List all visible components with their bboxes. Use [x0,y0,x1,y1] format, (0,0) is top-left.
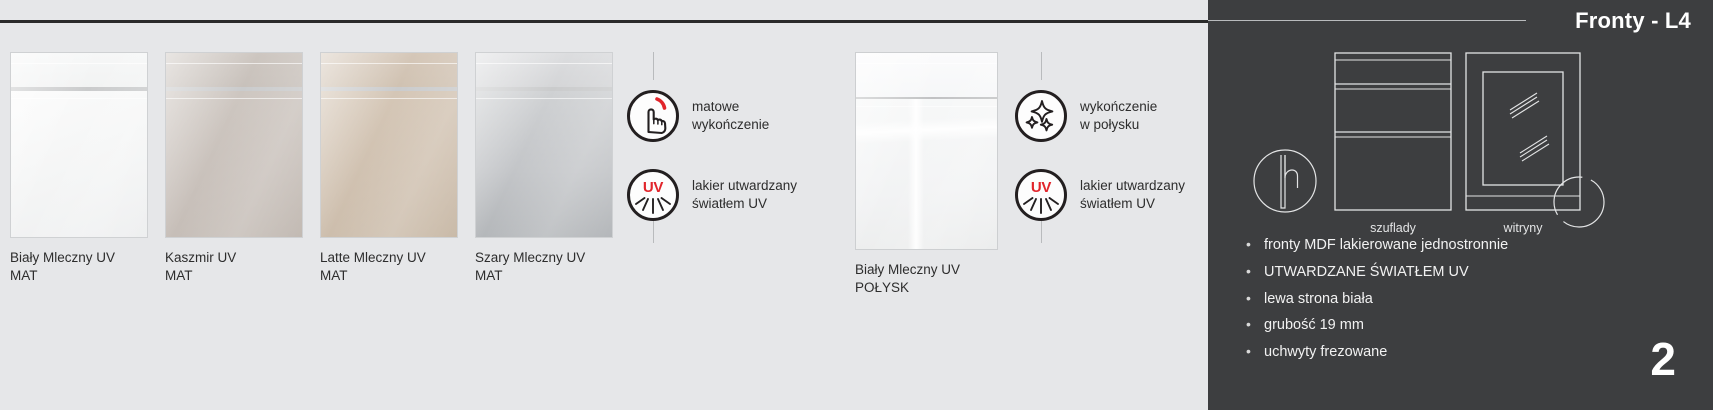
drawer-front-band [11,53,147,87]
feature-label: matowe wykończenie [692,98,769,134]
sample-card-kaszmir-mat[interactable]: Kaszmir UVMAT [165,52,303,285]
technical-diagrams: szuflady witryny [1208,48,1713,223]
door-front-panel [476,91,612,237]
bullet-marker: • [1246,286,1264,312]
feature-label: lakier utwardzany światłem UV [692,177,797,213]
list-item: • fronty MDF lakierowane jednostronnie [1246,232,1686,259]
list-item-label: fronty MDF lakierowane jednostronnie [1264,233,1508,259]
feature-label: wykończenie w połysku [1080,98,1157,134]
door-front-panel [856,99,997,249]
bullet-marker: • [1246,339,1264,365]
feature-bullet-list: • fronty MDF lakierowane jednostronnie •… [1246,232,1686,366]
feature-item-uv-cured-matt: UV lakier utwardzany światłem UV [627,169,797,221]
uv-lamp-icon: UV [1015,169,1067,221]
gloss-reflection-horizontal [856,116,998,144]
list-item-label: grubość 19 mm [1264,313,1364,339]
feature-item-matte-finish: matowe wykończenie [627,90,797,142]
door-front-preview [165,52,303,238]
feature-list-matt: matowe wykończenie UV lakier utwardzany … [627,90,797,248]
catalog-page: Biały Mleczny UVMAT Kaszmir UVMAT Latte … [0,0,1713,410]
sample-card-latte-mleczny-mat[interactable]: Latte Mleczny UVMAT [320,52,458,285]
drawer-front-band [166,53,302,87]
uv-rays-glyph [1018,172,1064,218]
door-front-preview [320,52,458,238]
door-front-panel [166,91,302,237]
feature-item-uv-cured-gloss: UV lakier utwardzany światłem UV [1015,169,1185,221]
page-title: Fronty - L4 [1575,8,1713,34]
section-divider-gloss-left [1041,52,1042,80]
sample-name-label: Szary Mleczny UVMAT [475,249,613,285]
sample-card-szary-mleczny-mat[interactable]: Szary Mleczny UVMAT [475,52,613,285]
list-item: • lewa strona biała [1246,286,1686,313]
panel-title-rule [1208,20,1526,21]
section-divider-matt-left [653,52,654,80]
drawer-front-diagram: szuflady [1334,48,1452,235]
sample-name-label: Biały Mleczny UVMAT [10,249,148,285]
uv-rays-glyph [630,172,676,218]
feature-label: lakier utwardzany światłem UV [1080,177,1185,213]
list-item: • UTWARDZANE ŚWIATŁEM UV [1246,259,1686,286]
header-divider-line [0,20,1208,23]
sample-name-label: Biały Mleczny UVPOŁYSK [855,261,998,297]
gloss-reflection-vertical [908,99,924,249]
feature-list-gloss: wykończenie w połysku UV lakier utwardza… [1015,90,1185,248]
sample-card-bialy-mleczny-mat[interactable]: Biały Mleczny UVMAT [10,52,148,285]
drawer-front-band [476,53,612,87]
drawer-front-band [856,53,997,97]
drawer-front-glyph [1334,48,1452,211]
door-front-preview [475,52,613,238]
sample-card-bialy-mleczny-polysk[interactable]: Biały Mleczny UVPOŁYSK [855,52,998,297]
sample-name-label: Latte Mleczny UVMAT [320,249,458,285]
sparkle-gloss-glyph [1018,93,1064,139]
door-front-panel [11,91,147,237]
uv-lamp-icon: UV [627,169,679,221]
bullet-marker: • [1246,232,1264,258]
door-front-preview [855,52,998,250]
info-panel: Fronty - L4 [1208,0,1713,410]
list-item-label: lewa strona biała [1264,287,1373,313]
bullet-marker: • [1246,312,1264,338]
door-front-panel [321,91,457,237]
bullet-marker: • [1246,259,1264,285]
panel-header: Fronty - L4 [1208,0,1713,41]
door-front-preview [10,52,148,238]
list-item-label: UTWARDZANE ŚWIATŁEM UV [1264,260,1469,286]
feature-item-gloss-finish: wykończenie w połysku [1015,90,1185,142]
list-item: • grubość 19 mm [1246,312,1686,339]
page-number: 2 [1650,336,1676,382]
sparkle-gloss-icon [1015,90,1067,142]
list-item: • uchwyty frezowane [1246,339,1686,366]
sample-name-label: Kaszmir UVMAT [165,249,303,285]
milled-handle-profile-detail [1252,148,1318,219]
handle-profile-glyph [1252,148,1318,214]
drawer-front-band [321,53,457,87]
hand-touch-matte-icon [627,90,679,142]
list-item-label: uchwyty frezowane [1264,340,1387,366]
hand-touch-matte-glyph [630,93,676,139]
